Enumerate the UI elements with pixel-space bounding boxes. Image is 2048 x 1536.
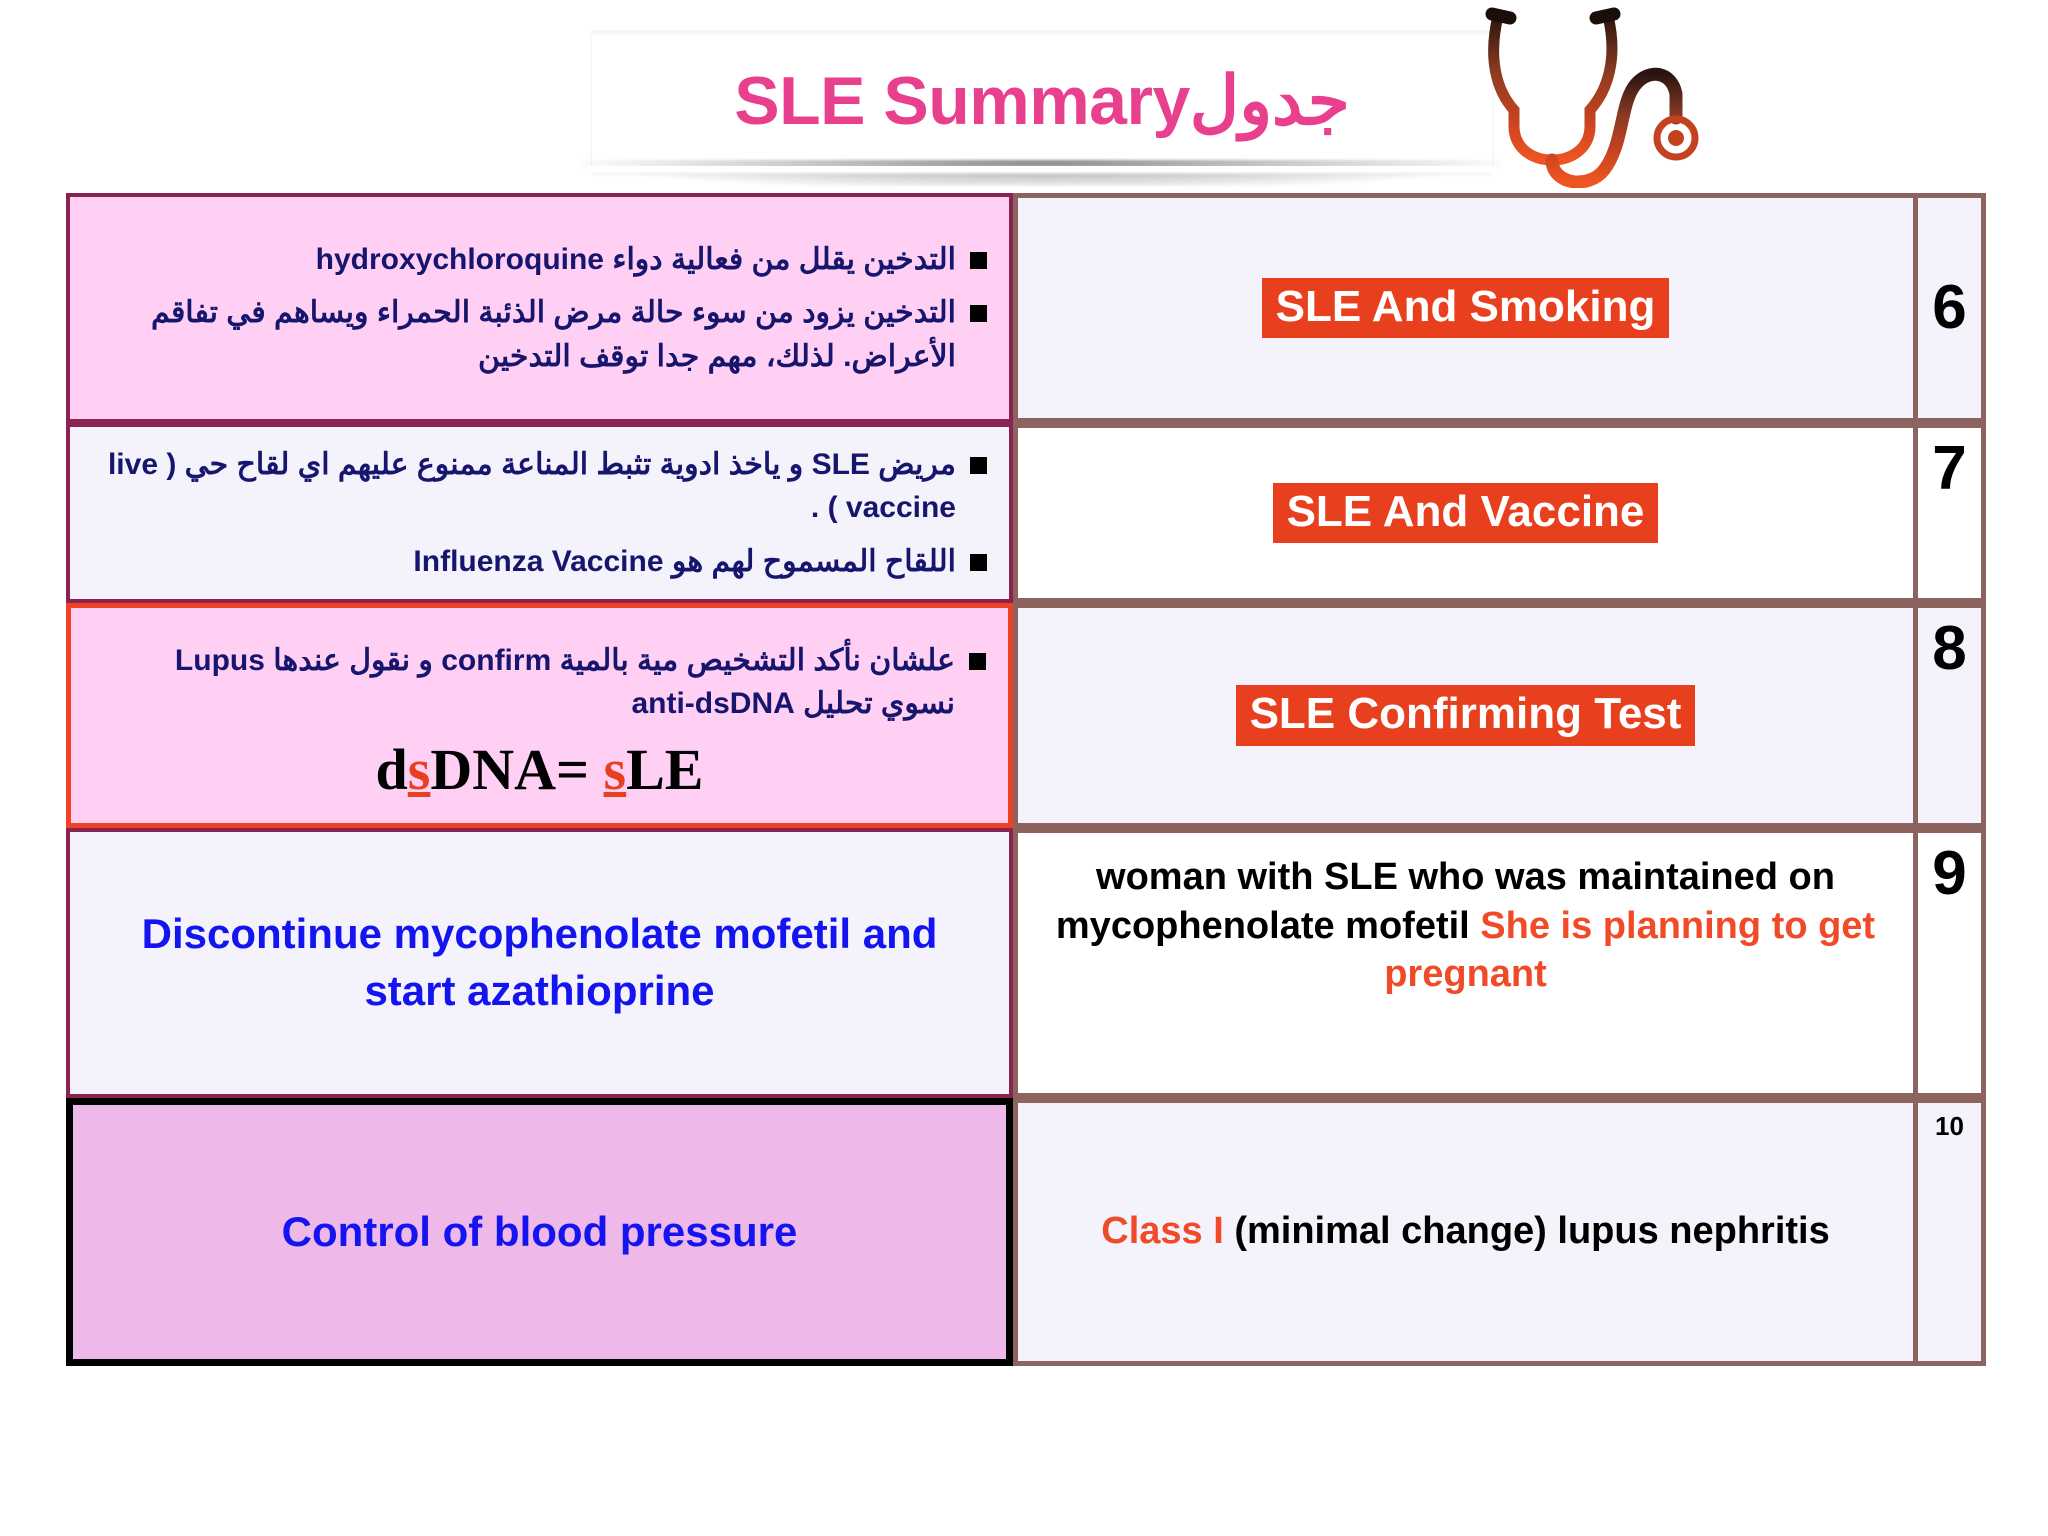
row-number: 7 <box>1918 423 1986 603</box>
table-row: مريض SLE و ياخذ ادوية تثبط المناعة ممنوع… <box>66 423 1986 603</box>
row-number: 10 <box>1918 1098 1986 1366</box>
bullet-list-7: مريض SLE و ياخذ ادوية تثبط المناعة ممنوع… <box>92 433 987 594</box>
case-description: Class I (minimal change) lupus nephritis <box>1044 1207 1887 1256</box>
row-number-cell-9: 9 <box>1918 828 1986 1098</box>
square-bullet-icon <box>970 252 987 269</box>
status-badge: SLE And Smoking <box>1262 278 1670 339</box>
bullet-text: التدخين يقلل من فعالية دواء hydroxychlor… <box>92 238 956 282</box>
detail-cell-6: التدخين يقلل من فعالية دواء hydroxychlor… <box>66 193 1013 423</box>
row-number-cell-6: 6 <box>1918 193 1986 423</box>
answer-text: Control of blood pressure <box>95 1204 984 1261</box>
case-text-black: (minimal change) lupus nephritis <box>1224 1210 1830 1252</box>
equation-pre: d <box>375 737 407 802</box>
row-number-cell-10: 10 <box>1918 1098 1986 1366</box>
bullet-text: اللقاح المسموح لهم هو Influenza Vaccine <box>92 540 956 584</box>
torn-paper-top-edge <box>592 30 1492 36</box>
answer-text: Discontinue mycophenolate mofetil and st… <box>92 906 987 1019</box>
bullet-text: التدخين يزود من سوء حالة مرض الذئبة الحم… <box>92 291 956 378</box>
topic-cell-8: SLE Confirming Test <box>1013 603 1918 828</box>
dsdna-equation: dsDNA= sLE <box>93 736 986 803</box>
row-number: 8 <box>1918 603 1986 828</box>
equation-post: LE <box>626 737 703 802</box>
answer-cell-10: Control of blood pressure <box>66 1098 1013 1366</box>
case-description: woman with SLE who was maintained on myc… <box>1044 853 1887 999</box>
title-banner: SLE Summaryجدول <box>592 30 1492 172</box>
square-bullet-icon <box>970 305 987 322</box>
torn-paper-bottom-edge <box>588 166 1496 176</box>
equation-mid: DNA= <box>430 737 603 802</box>
row-number: 6 <box>1918 193 1986 423</box>
table-row: Discontinue mycophenolate mofetil and st… <box>66 828 1986 1098</box>
status-badge: SLE And Vaccine <box>1273 483 1659 544</box>
topic-cell-7: SLE And Vaccine <box>1013 423 1918 603</box>
answer-cell-9: Discontinue mycophenolate mofetil and st… <box>66 828 1013 1098</box>
status-badge: SLE Confirming Test <box>1236 685 1696 746</box>
sle-summary-table: التدخين يقلل من فعالية دواء hydroxychlor… <box>66 193 1986 1366</box>
topic-cell-6: SLE And Smoking <box>1013 193 1918 423</box>
stethoscope-icon <box>1468 0 1728 188</box>
case-cell-10: Class I (minimal change) lupus nephritis <box>1013 1098 1918 1366</box>
page-title: SLE Summaryجدول <box>734 62 1350 141</box>
table-row: علشان نأكد التشخيص مية بالمية confirm و … <box>66 603 1986 828</box>
detail-cell-7: مريض SLE و ياخذ ادوية تثبط المناعة ممنوع… <box>66 423 1013 603</box>
case-cell-9: woman with SLE who was maintained on myc… <box>1013 828 1918 1098</box>
square-bullet-icon <box>969 653 986 670</box>
row-number-cell-8: 8 <box>1918 603 1986 828</box>
bullet-text: مريض SLE و ياخذ ادوية تثبط المناعة ممنوع… <box>92 443 956 530</box>
list-item: التدخين يقلل من فعالية دواء hydroxychlor… <box>92 238 987 282</box>
list-item: مريض SLE و ياخذ ادوية تثبط المناعة ممنوع… <box>92 443 987 530</box>
detail-cell-8: علشان نأكد التشخيص مية بالمية confirm و … <box>66 603 1013 828</box>
list-item: علشان نأكد التشخيص مية بالمية confirm و … <box>93 639 986 726</box>
list-item: التدخين يزود من سوء حالة مرض الذئبة الحم… <box>92 291 987 378</box>
square-bullet-icon <box>970 554 987 571</box>
equation-s1: s <box>408 737 431 802</box>
table-row: التدخين يقلل من فعالية دواء hydroxychlor… <box>66 193 1986 423</box>
bullet-text: علشان نأكد التشخيص مية بالمية confirm و … <box>93 639 955 726</box>
case-text-highlight: Class I <box>1101 1210 1224 1252</box>
table-row: Control of blood pressure Class I (minim… <box>66 1098 1986 1366</box>
bullet-list-8: علشان نأكد التشخيص مية بالمية confirm و … <box>93 629 986 803</box>
row-number-cell-7: 7 <box>1918 423 1986 603</box>
square-bullet-icon <box>970 457 987 474</box>
list-item: اللقاح المسموح لهم هو Influenza Vaccine <box>92 540 987 584</box>
equation-s2: s <box>604 737 627 802</box>
row-number: 9 <box>1918 828 1986 1098</box>
bullet-list-6: التدخين يقلل من فعالية دواء hydroxychlor… <box>92 228 987 389</box>
